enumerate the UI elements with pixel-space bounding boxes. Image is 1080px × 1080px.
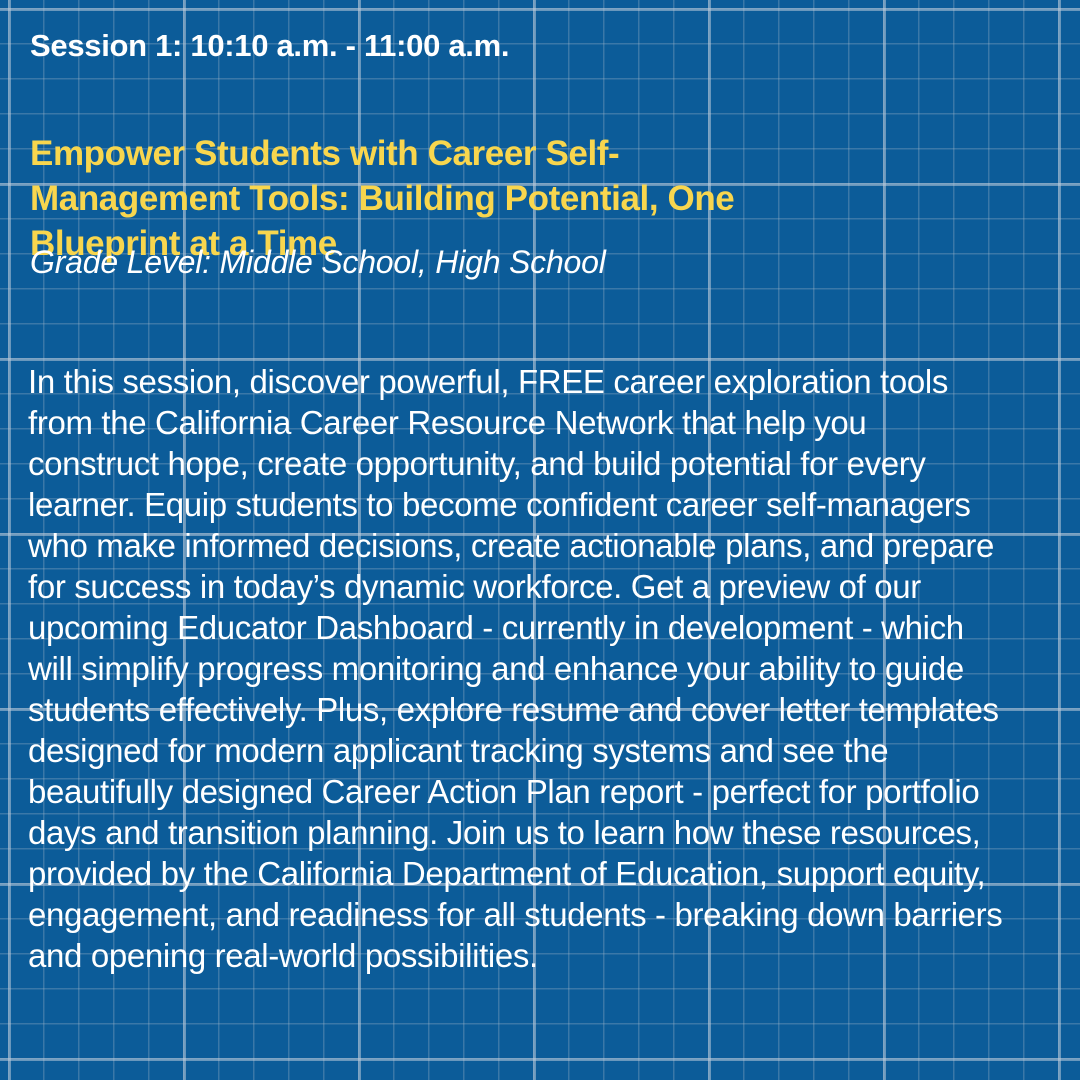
session-time-header: Session 1: 10:10 a.m. - 11:00 a.m. xyxy=(30,28,1050,64)
grade-level-label: Grade Level: Middle School, High School xyxy=(30,243,1050,281)
session-slide: Session 1: 10:10 a.m. - 11:00 a.m. Empow… xyxy=(0,0,1080,1080)
slide-content: Session 1: 10:10 a.m. - 11:00 a.m. Empow… xyxy=(0,0,1080,1080)
session-description: In this session, discover powerful, FREE… xyxy=(28,361,1003,976)
